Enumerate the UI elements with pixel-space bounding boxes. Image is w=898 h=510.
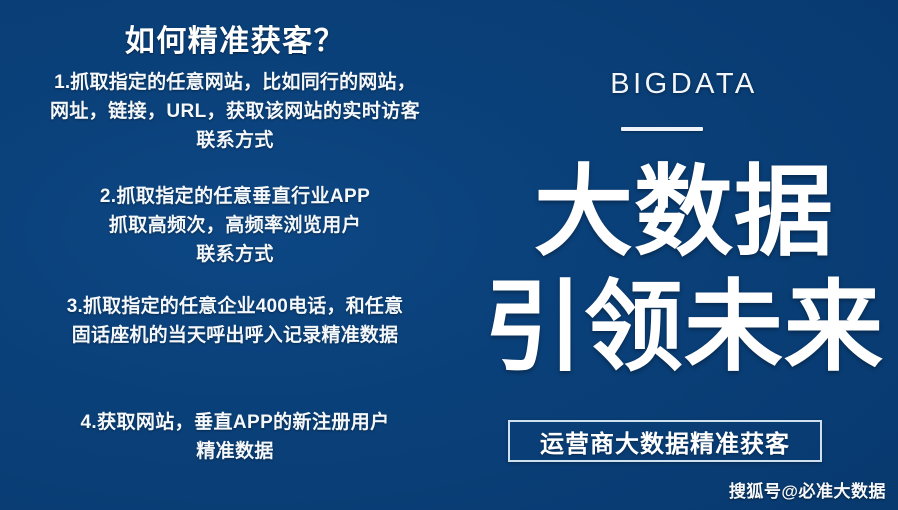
left-content-panel: 如何精准获客？ 1.抓取指定的任意网站，比如同行的网站， 网址，链接，URL，获…: [0, 0, 470, 510]
watermark-label: 搜狐号@必准大数据: [729, 477, 886, 502]
bullet-2-line-2: 抓取高频次，高频率浏览用户: [0, 211, 470, 240]
headline-line-1: 大数据: [470, 160, 898, 264]
tagline-text: 运营商大数据精准获客: [540, 424, 790, 459]
bullet-1-line-1: 1.抓取指定的任意网站，比如同行的网站，: [0, 68, 470, 97]
bullet-4-line-2: 精准数据: [0, 437, 470, 466]
bullet-3-line-1: 3.抓取指定的任意企业400电话，和任意: [0, 292, 470, 321]
poster-canvas: 如何精准获客？ 1.抓取指定的任意网站，比如同行的网站， 网址，链接，URL，获…: [0, 0, 898, 510]
headline-line-2: 引领未来: [470, 275, 898, 379]
list-item: 3.抓取指定的任意企业400电话，和任意 固话座机的当天呼出呼入记录精准数据: [0, 292, 470, 350]
divider-rule: [621, 127, 703, 131]
bullet-1-line-3: 联系方式: [0, 126, 470, 155]
bullet-2-line-1: 2.抓取指定的任意垂直行业APP: [0, 182, 470, 211]
list-item: 2.抓取指定的任意垂直行业APP 抓取高频次，高频率浏览用户 联系方式: [0, 182, 470, 269]
right-branding-panel: BIGDATA 大数据 引领未来 运营商大数据精准获客: [470, 0, 898, 510]
page-title: 如何精准获客？: [0, 16, 470, 60]
bullet-4-line-1: 4.获取网站，垂直APP的新注册用户: [0, 408, 470, 437]
brand-english-label: BIGDATA: [470, 68, 898, 101]
bullet-1-line-2: 网址，链接，URL，获取该网站的实时访客: [0, 97, 470, 126]
bullet-3-line-2: 固话座机的当天呼出呼入记录精准数据: [0, 321, 470, 350]
bullet-2-line-3: 联系方式: [0, 240, 470, 269]
list-item: 1.抓取指定的任意网站，比如同行的网站， 网址，链接，URL，获取该网站的实时访…: [0, 68, 470, 155]
list-item: 4.获取网站，垂直APP的新注册用户 精准数据: [0, 408, 470, 466]
tagline-box: 运营商大数据精准获客: [508, 420, 822, 462]
